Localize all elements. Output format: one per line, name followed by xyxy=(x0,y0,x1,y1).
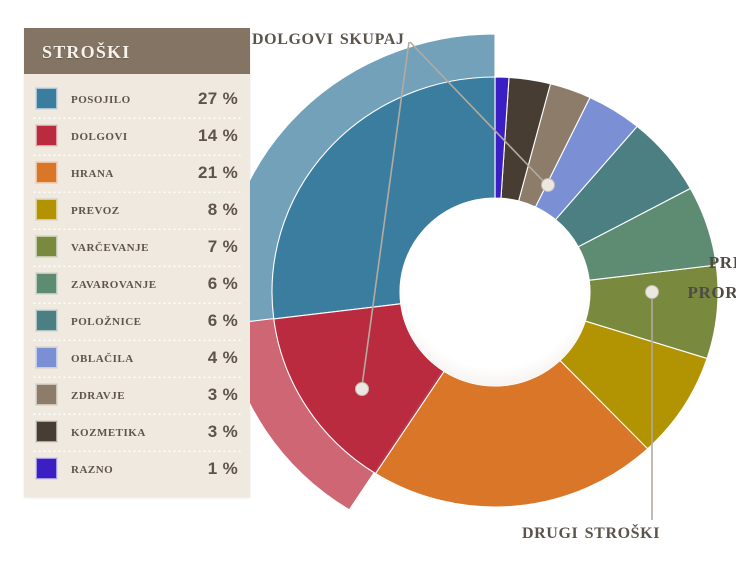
legend-title: Stroški xyxy=(42,37,130,65)
legend-item-percent: 3 % xyxy=(208,422,238,442)
callout-label-drugi-stroski: Drugi stroški xyxy=(522,518,660,544)
legend-row[interactable]: Prevoz8 % xyxy=(24,191,250,228)
legend-row[interactable]: Posojilo27 % xyxy=(24,80,250,117)
legend-item-percent: 8 % xyxy=(208,200,238,220)
legend-swatch-razno xyxy=(36,458,57,479)
legend-row[interactable]: Razno1 % xyxy=(24,450,250,487)
legend-item-percent: 4 % xyxy=(208,348,238,368)
legend-item-label: Razno xyxy=(71,460,208,478)
legend-item-percent: 7 % xyxy=(208,237,238,257)
legend-item-percent: 14 % xyxy=(198,126,238,146)
legend-item-label: Posojilo xyxy=(71,90,198,108)
legend-row[interactable]: Hrana21 % xyxy=(24,154,250,191)
legend-item-percent: 21 % xyxy=(198,163,238,183)
legend-panel: Stroški Posojilo27 %Dolgovi14 %Hrana21 %… xyxy=(24,28,250,497)
legend-row[interactable]: Položnice6 % xyxy=(24,302,250,339)
legend-item-label: Zavarovanje xyxy=(71,275,208,293)
legend-swatch-oblačila xyxy=(36,347,57,368)
callout-label-dolgovi-skupaj: Dolgovi skupaj xyxy=(252,24,405,50)
legend-item-label: Oblačila xyxy=(71,349,208,367)
callout-dot-dolgovi xyxy=(356,383,369,396)
legend-swatch-zdravje xyxy=(36,384,57,405)
legend-swatch-varčevanje xyxy=(36,236,57,257)
callout-dot-drugi-stroski xyxy=(646,286,659,299)
legend-row[interactable]: Zavarovanje6 % xyxy=(24,265,250,302)
legend-item-label: Položnice xyxy=(71,312,208,330)
legend-row[interactable]: Oblačila4 % xyxy=(24,339,250,376)
infographic-root: Stroški Posojilo27 %Dolgovi14 %Hrana21 %… xyxy=(0,0,736,572)
legend-item-percent: 3 % xyxy=(208,385,238,405)
legend-item-percent: 6 % xyxy=(208,311,238,331)
legend-item-label: Varčevanje xyxy=(71,238,208,256)
donut-hole xyxy=(400,198,590,386)
donut-chart-svg xyxy=(250,0,736,572)
legend-item-percent: 6 % xyxy=(208,274,238,294)
legend-row[interactable]: Kozmetika3 % xyxy=(24,413,250,450)
legend-swatch-posojilo xyxy=(36,88,57,109)
legend-row[interactable]: Varčevanje7 % xyxy=(24,228,250,265)
legend-row[interactable]: Zdravje3 % xyxy=(24,376,250,413)
callout-dot-posojilo xyxy=(542,179,555,192)
legend-item-label: Kozmetika xyxy=(71,423,208,441)
legend-swatch-položnice xyxy=(36,310,57,331)
legend-item-percent: 27 % xyxy=(198,89,238,109)
legend-item-label: Prevoz xyxy=(71,201,208,219)
legend-item-label: Hrana xyxy=(71,164,198,182)
legend-item-label: Dolgovi xyxy=(71,127,198,145)
legend-header: Stroški xyxy=(24,28,250,74)
legend-item-label: Zdravje xyxy=(71,386,208,404)
legend-item-percent: 1 % xyxy=(208,459,238,479)
legend-row[interactable]: Dolgovi14 % xyxy=(24,117,250,154)
legend-swatch-zavarovanje xyxy=(36,273,57,294)
donut-chart: Primer Proračuna xyxy=(250,0,736,572)
legend-list: Posojilo27 %Dolgovi14 %Hrana21 %Prevoz8 … xyxy=(24,74,250,497)
legend-swatch-hrana xyxy=(36,162,57,183)
legend-swatch-kozmetika xyxy=(36,421,57,442)
legend-swatch-prevoz xyxy=(36,199,57,220)
legend-swatch-dolgovi xyxy=(36,125,57,146)
